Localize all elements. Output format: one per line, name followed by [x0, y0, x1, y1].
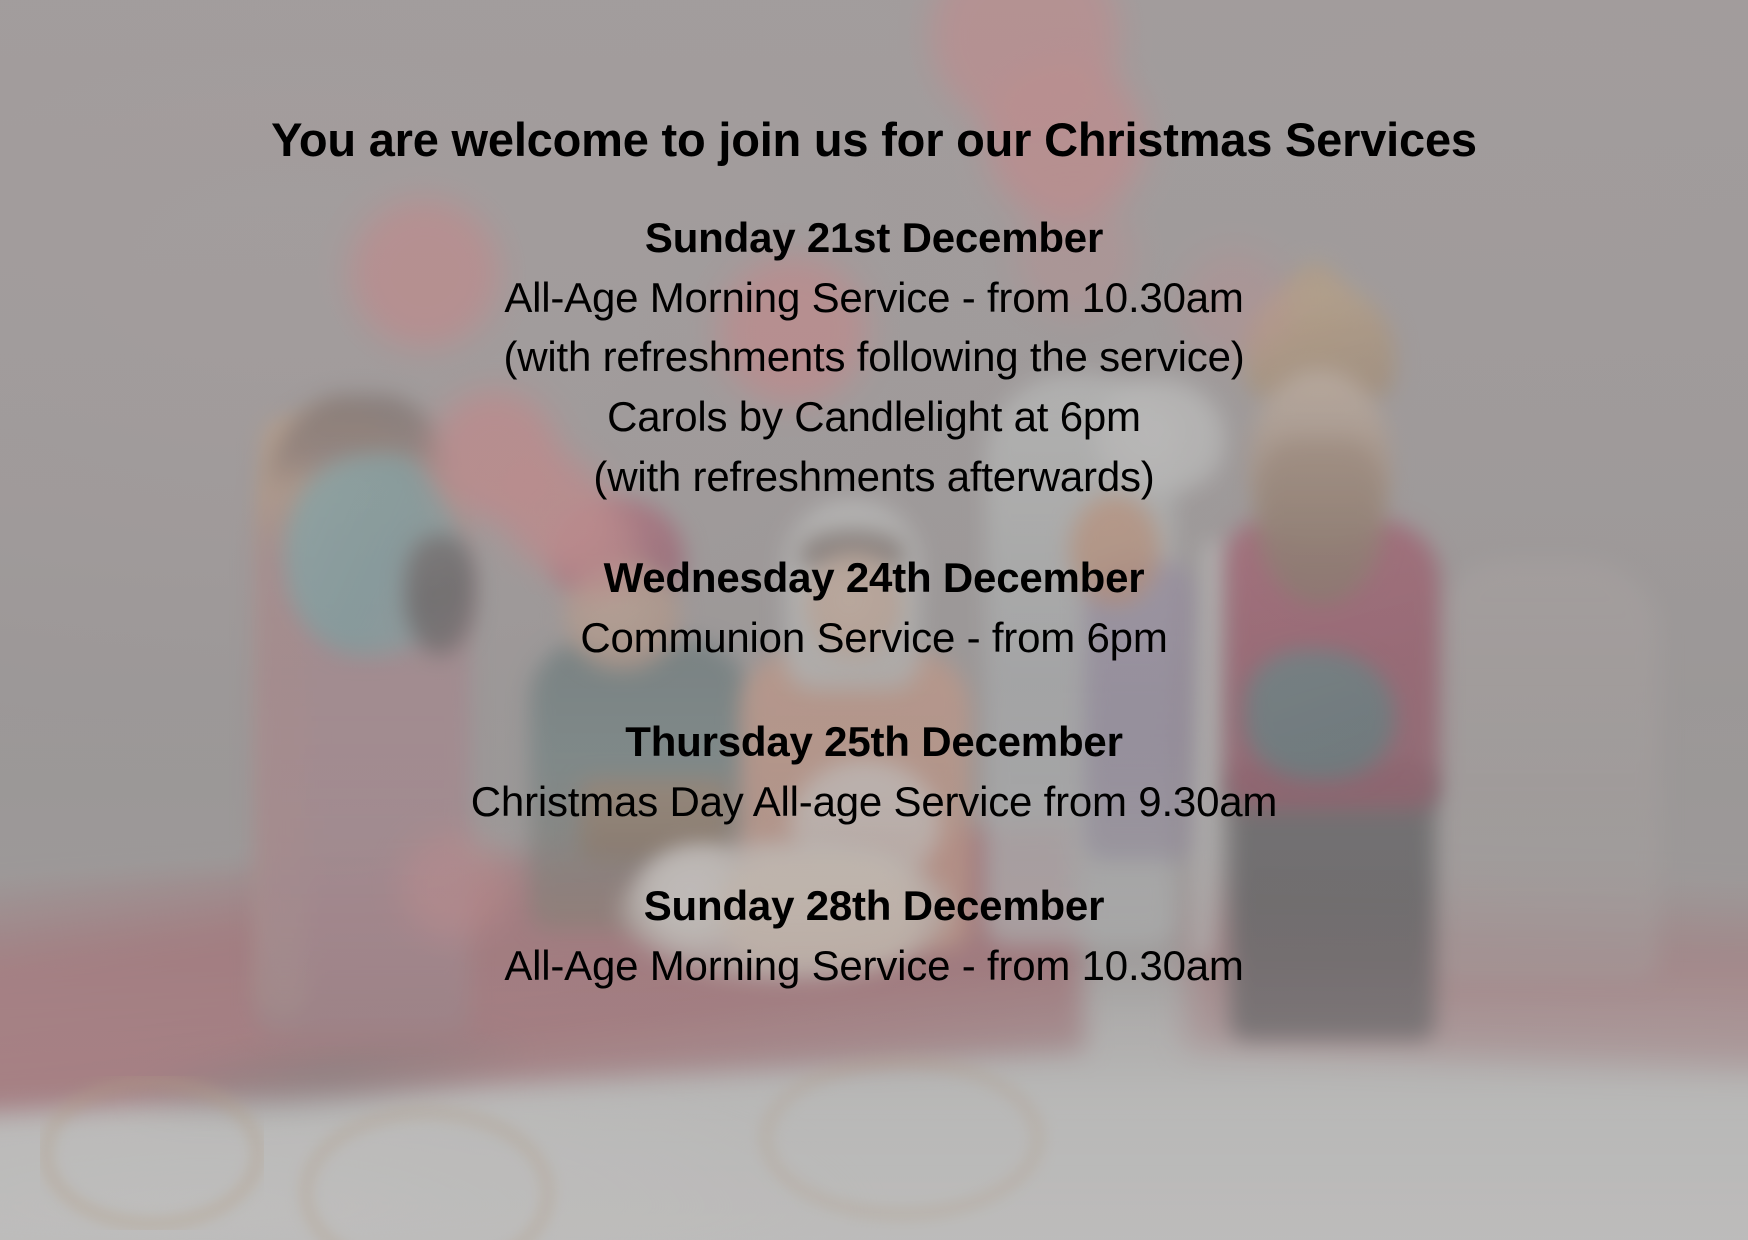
service-detail: All-Age Morning Service - from 10.30am: [0, 936, 1748, 996]
service-detail: Christmas Day All-age Service from 9.30a…: [0, 772, 1748, 832]
service-date: Wednesday 24th December: [0, 548, 1748, 608]
poster-content: You are welcome to join us for our Chris…: [0, 0, 1748, 1240]
service-detail: (with refreshments afterwards): [0, 447, 1748, 507]
service-detail: Carols by Candlelight at 6pm: [0, 387, 1748, 447]
service-date: Sunday 28th December: [0, 876, 1748, 936]
service-block-1: Sunday 21st December All-Age Morning Ser…: [0, 208, 1748, 506]
page-title: You are welcome to join us for our Chris…: [0, 112, 1748, 168]
service-block-2: Wednesday 24th December Communion Servic…: [0, 548, 1748, 667]
service-block-4: Sunday 28th December All-Age Morning Ser…: [0, 876, 1748, 995]
service-date: Sunday 21st December: [0, 208, 1748, 268]
service-detail: Communion Service - from 6pm: [0, 608, 1748, 668]
service-detail: (with refreshments following the service…: [0, 327, 1748, 387]
service-block-3: Thursday 25th December Christmas Day All…: [0, 712, 1748, 831]
service-date: Thursday 25th December: [0, 712, 1748, 772]
christmas-services-poster: You are welcome to join us for our Chris…: [0, 0, 1748, 1240]
service-detail: All-Age Morning Service - from 10.30am: [0, 268, 1748, 328]
